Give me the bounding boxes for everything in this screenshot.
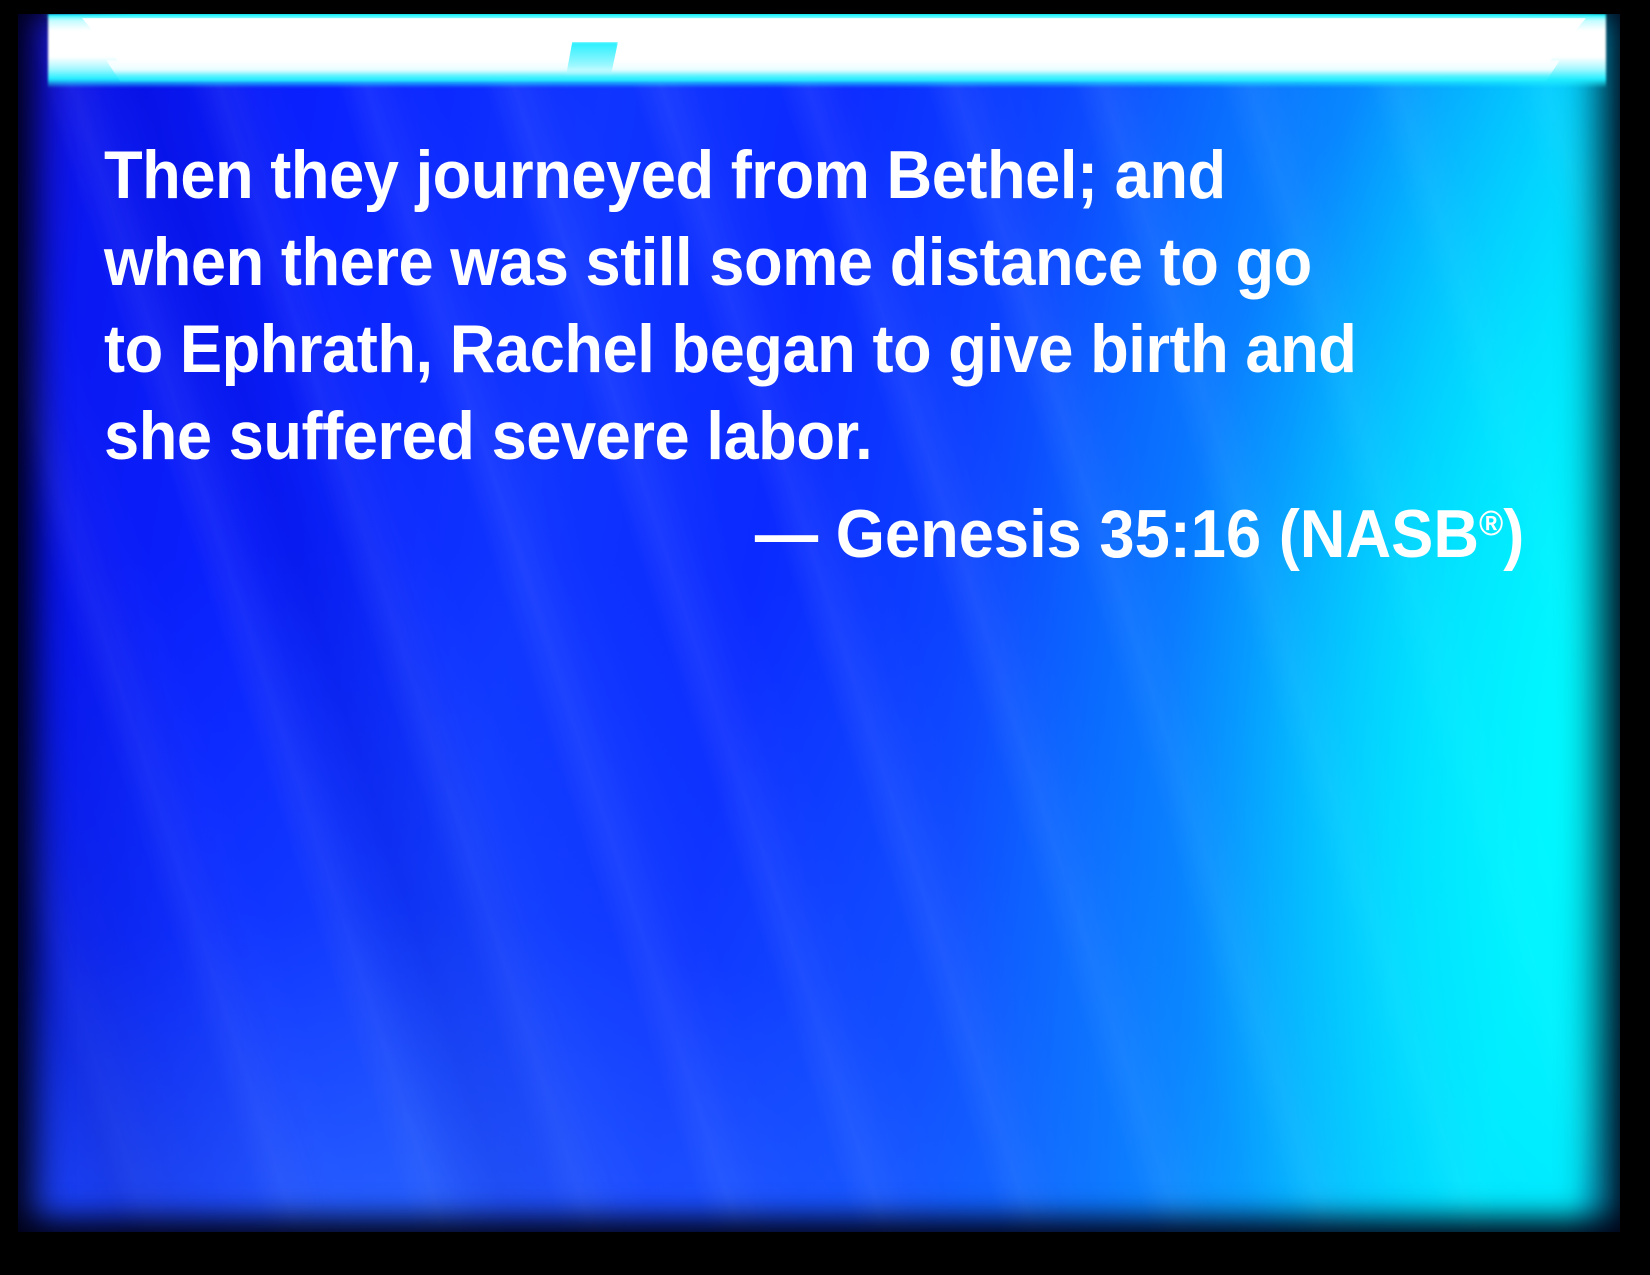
- top-highlight-lip: [106, 60, 1560, 82]
- citation-space-2: [1082, 496, 1100, 572]
- slide-canvas: Then they journeyed from Bethel; and whe…: [18, 14, 1620, 1232]
- citation-reference: 35:16: [1099, 496, 1261, 572]
- citation-version-close: ): [1503, 496, 1524, 572]
- bible-verse-slide: Then they journeyed from Bethel; and whe…: [0, 0, 1650, 1275]
- registered-trademark-icon: ®: [1479, 504, 1503, 543]
- top-highlight-bar: [18, 14, 1620, 100]
- verse-line-2: when there was still some distance to go: [104, 219, 1425, 306]
- citation-space-1: [818, 496, 836, 572]
- verse-line-3: to Ephrath, Rachel began to give birth a…: [104, 306, 1425, 393]
- verse-text-block: Then they journeyed from Bethel; and whe…: [104, 132, 1524, 480]
- citation-dash: —: [755, 496, 818, 572]
- verse-line-1: Then they journeyed from Bethel; and: [104, 132, 1425, 219]
- citation-space-3: [1261, 496, 1279, 572]
- verse-line-4: she suffered severe labor.: [104, 393, 1425, 480]
- verse-citation: — Genesis 35:16 (NASB®): [104, 480, 1524, 578]
- citation-inner: — Genesis 35:16 (NASB®): [755, 480, 1524, 578]
- top-highlight-notch: [566, 42, 618, 76]
- citation-book: Genesis: [835, 496, 1081, 572]
- citation-version-open: (NASB: [1278, 496, 1478, 572]
